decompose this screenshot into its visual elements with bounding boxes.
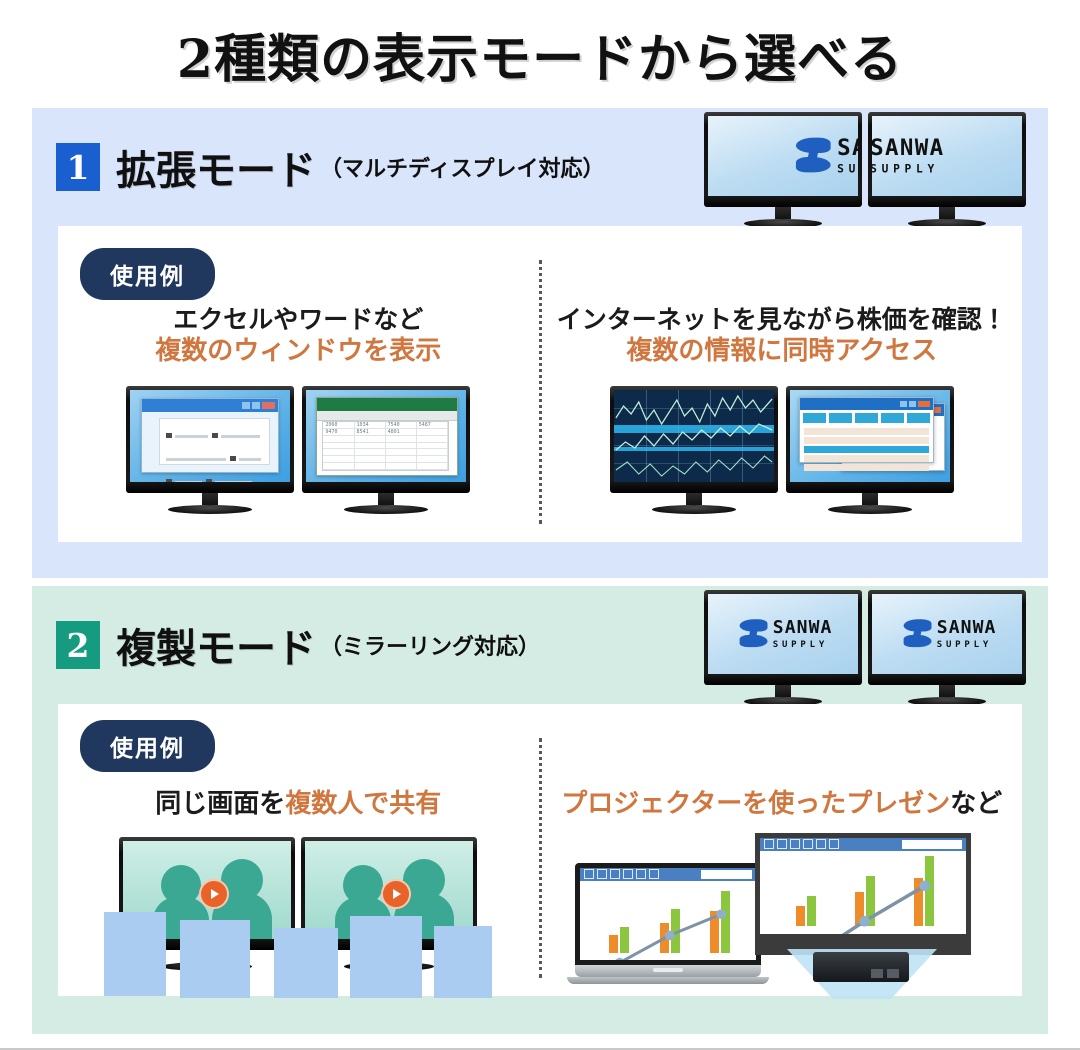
duplicate-example-1-caption: 同じ画面を複数人で共有 bbox=[155, 788, 441, 821]
sanwa-logo-top: SANWA bbox=[936, 619, 996, 637]
word-window bbox=[141, 398, 279, 473]
monitor-right: SANWA SUPPLY bbox=[868, 112, 1026, 228]
extended-header-monitors: SANWA SUPPLY bbox=[704, 112, 1026, 228]
sanwa-logo-mark bbox=[739, 619, 767, 649]
monitor-left: SANWA SUPPLY bbox=[704, 590, 862, 706]
sanwa-logo-bottom: SUPPLY bbox=[872, 163, 944, 174]
extended-example-1-caption: エクセルやワードなど 複数のウィンドウを表示 bbox=[155, 304, 441, 368]
sanwa-logo-bottom: SUPPLY bbox=[837, 163, 858, 174]
duplicate-mode-title: 複製モード bbox=[116, 616, 316, 674]
caption-orange-part: 複数人で共有 bbox=[285, 789, 441, 819]
page-title-area: 2種類の表示モードから選べる bbox=[0, 0, 1080, 108]
duplicate-example-2: プロジェクターを使ったプレゼンなど bbox=[542, 704, 1023, 996]
duplicate-usage-card: 使用例 同じ画面を複数人で共有 bbox=[58, 704, 1022, 996]
monitor-meeting-right bbox=[301, 837, 477, 971]
stock-browser-monitors bbox=[610, 386, 954, 514]
sanwa-logo-mark bbox=[903, 619, 931, 649]
extended-example-2-caption: インターネットを見ながら株価を確認！ 複数の情報に同時アクセス bbox=[557, 304, 1007, 368]
extended-usage-card: 使用例 エクセルやワードなど 複数のウィンドウを表示 bbox=[58, 226, 1022, 542]
excel-cell: 1034 bbox=[355, 422, 386, 428]
section-duplicate-mode: 2 複製モード （ミラーリング対応） bbox=[32, 586, 1048, 1034]
monitor-left: SANWA SUPPLY bbox=[704, 112, 862, 228]
video-meeting-screen bbox=[305, 841, 473, 939]
extended-mode-header: 1 拡張モード （マルチディスプレイ対応） bbox=[32, 108, 1048, 226]
play-icon bbox=[381, 879, 411, 909]
sanwa-logo-top: SANWA bbox=[837, 138, 858, 160]
monitor-stock-chart bbox=[610, 386, 778, 514]
sanwa-logo-bottom: SUPPLY bbox=[772, 640, 832, 649]
section-number-badge-1: 1 bbox=[56, 143, 100, 191]
bar-chart-window bbox=[760, 838, 966, 934]
extended-mode-subtitle: （マルチディスプレイ対応） bbox=[320, 151, 604, 183]
caption-line-1: エクセルやワードなど bbox=[155, 304, 441, 335]
projector-device bbox=[813, 952, 909, 982]
extended-example-2: インターネットを見ながら株価を確認！ 複数の情報に同時アクセス bbox=[542, 226, 1023, 542]
sanwa-logo-bottom: SUPPLY bbox=[936, 640, 996, 649]
sanwa-logo-top: SANWA bbox=[772, 619, 832, 637]
caption-line-2: 複数のウィンドウを表示 bbox=[155, 335, 441, 368]
caption-line-2: 複数の情報に同時アクセス bbox=[557, 335, 1007, 368]
play-icon bbox=[199, 879, 229, 909]
video-meeting-screen bbox=[123, 841, 291, 939]
laptop-screen bbox=[580, 868, 756, 960]
excel-grid: 2060 1034 7540 5487 9470 8541 bbox=[322, 421, 448, 471]
excel-cell: 2060 bbox=[323, 422, 354, 428]
bar-chart-window bbox=[580, 868, 756, 960]
monitor-browser bbox=[786, 386, 954, 514]
caption-orange-part: プロジェクターを使ったプレゼン bbox=[561, 789, 950, 819]
sanwa-logo-mark bbox=[796, 138, 831, 175]
caption-black-part: など bbox=[950, 789, 1002, 819]
monitor-excel: 2060 1034 7540 5487 9470 8541 bbox=[302, 386, 470, 514]
monitor-word bbox=[126, 386, 294, 514]
stock-chart-screen bbox=[614, 390, 774, 482]
sanwa-logo-top: SANWA bbox=[872, 138, 944, 160]
section-extended-mode: 1 拡張モード （マルチディスプレイ対応） bbox=[32, 108, 1048, 578]
caption-black-part: 同じ画面を bbox=[155, 789, 285, 819]
projector-illustration bbox=[567, 831, 997, 997]
excel-cell: 4801 bbox=[386, 429, 417, 435]
excel-cell: 5487 bbox=[417, 422, 448, 428]
extended-example-1: エクセルやワードなど 複数のウィンドウを表示 bbox=[58, 226, 539, 542]
projector-screen bbox=[755, 833, 971, 955]
monitor-right: SANWA SUPPLY bbox=[868, 590, 1026, 706]
word-excel-monitors: 2060 1034 7540 5487 9470 8541 bbox=[126, 386, 470, 514]
caption-line-1: インターネットを見ながら株価を確認！ bbox=[557, 304, 1007, 335]
browser-window-front bbox=[799, 397, 933, 463]
page-title: 2種類の表示モードから選べる bbox=[177, 17, 903, 92]
duplicate-mode-subtitle: （ミラーリング対応） bbox=[320, 629, 540, 661]
duplicate-example-2-caption: プロジェクターを使ったプレゼンなど bbox=[561, 788, 1002, 821]
duplicate-example-1: 同じ画面を複数人で共有 bbox=[58, 704, 539, 996]
extended-mode-title: 拡張モード bbox=[116, 138, 316, 196]
excel-cell bbox=[417, 429, 448, 435]
excel-cell: 9470 bbox=[323, 429, 354, 435]
meeting-illustration bbox=[98, 837, 498, 997]
infographic-page: 2種類の表示モードから選べる 1 拡張モード （マルチディスプレイ対応） bbox=[0, 0, 1080, 1050]
section-number-badge-2: 2 bbox=[56, 621, 100, 669]
monitor-meeting-left bbox=[119, 837, 295, 971]
laptop bbox=[575, 863, 761, 984]
duplicate-header-monitors: SANWA SUPPLY bbox=[704, 590, 1026, 706]
excel-cell: 7540 bbox=[386, 422, 417, 428]
excel-window: 2060 1034 7540 5487 9470 8541 bbox=[316, 397, 458, 476]
duplicate-mode-header: 2 複製モード （ミラーリング対応） bbox=[32, 586, 1048, 704]
excel-cell: 8541 bbox=[355, 429, 386, 435]
